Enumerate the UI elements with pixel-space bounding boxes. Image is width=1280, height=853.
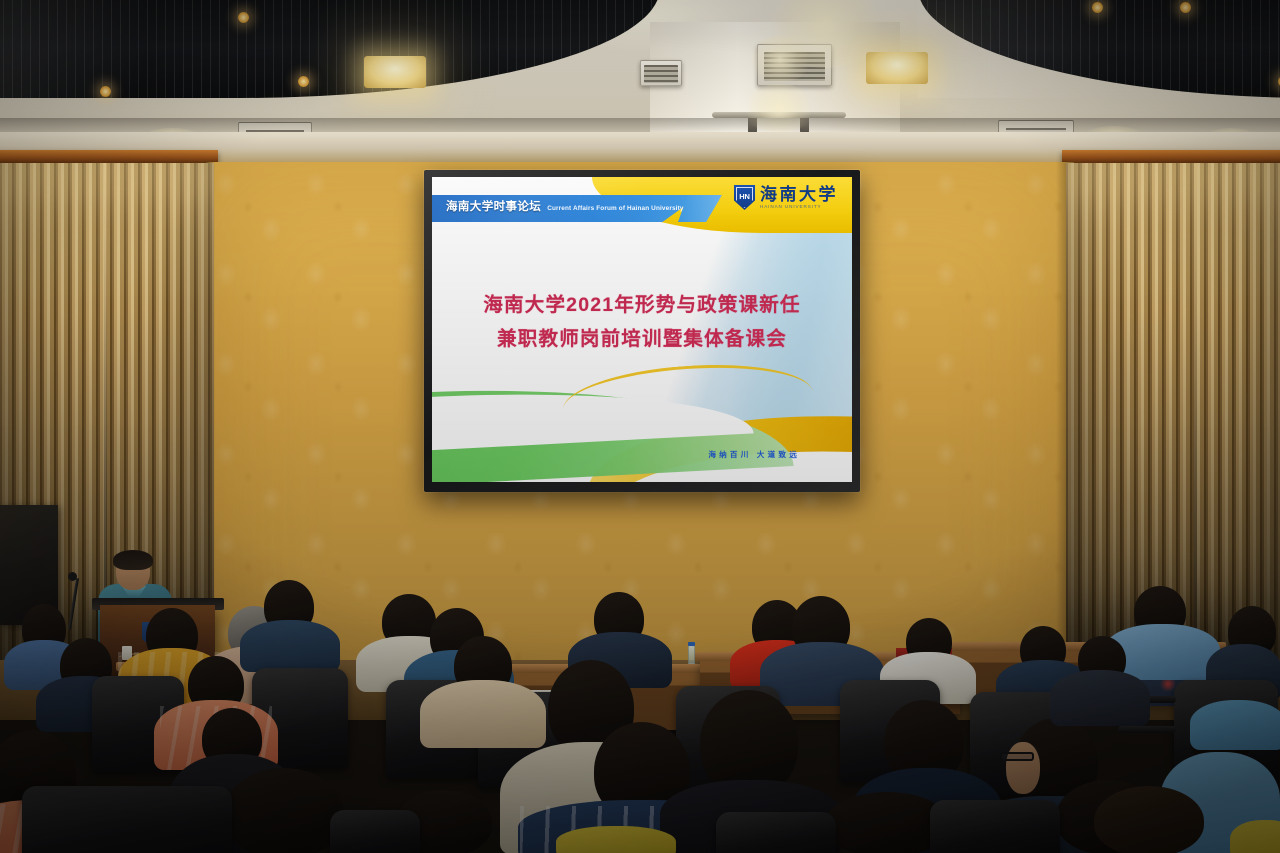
auditorium-chair[interactable]: [716, 812, 836, 853]
pendant-spot-icon: [1092, 2, 1103, 13]
slide-title: 海南大学2021年形势与政策课新任 兼职教师岗前培训暨集体备课会: [432, 289, 852, 356]
audience-shoulders: [1050, 670, 1150, 726]
pendant-spot-icon: [100, 86, 111, 97]
ceiling-panel-left: [0, 0, 660, 98]
presentation-slide: 海南大学时事论坛 Current Affairs Forum of Hainan…: [432, 177, 852, 482]
pendant-spot-icon: [238, 12, 249, 23]
audience-shoulders: [240, 620, 340, 672]
auditorium-chair[interactable]: [22, 786, 232, 853]
audience-face-profile: [1006, 742, 1040, 794]
curtain-valance-right: [1062, 150, 1280, 164]
water-bottle: [688, 645, 695, 664]
presenter-hair: [113, 550, 153, 570]
ceiling-air-conditioner-secondary-icon: [640, 60, 682, 86]
eyeglasses-icon: [1000, 752, 1034, 761]
shield-monogram: HN: [739, 192, 749, 201]
auditorium-chair[interactable]: [330, 810, 420, 853]
university-logo: HN 海南大学 HAINAN UNIVERSITY: [734, 185, 838, 210]
ceiling-light-panel: [866, 52, 928, 84]
ceiling-panel-gloss: [918, 0, 1280, 98]
logo-name-en: HAINAN UNIVERSITY: [760, 205, 838, 210]
curtain-valance-left: [0, 150, 218, 164]
bottle-cap: [688, 642, 695, 646]
audience-shoulders: [420, 680, 546, 748]
ceiling-light-panel: [364, 56, 426, 88]
logo-wordmark: 海南大学 HAINAN UNIVERSITY: [760, 186, 838, 210]
audience-shoulders: [1190, 700, 1280, 750]
slide-title-line-1: 海南大学2021年形势与政策课新任: [432, 289, 852, 323]
ceiling-panel-gloss: [0, 0, 660, 98]
ceiling-panel-right: [918, 0, 1280, 98]
logo-name-cn: 海南大学: [760, 186, 838, 203]
slide-slogan: 海纳百川 大道致远: [708, 449, 800, 460]
pendant-spot-icon: [298, 76, 309, 87]
audience-shoulders: [556, 826, 676, 853]
banner-title-en: Current Affairs Forum of Hainan Universi…: [547, 205, 683, 212]
banner-title-cn: 海南大学时事论坛: [446, 198, 541, 214]
auditorium-chair[interactable]: [930, 800, 1060, 853]
projection-screen[interactable]: 海南大学时事论坛 Current Affairs Forum of Hainan…: [424, 170, 860, 492]
slide-title-line-2: 兼职教师岗前培训暨集体备课会: [432, 323, 852, 357]
ac-vents: [644, 65, 678, 82]
conference-hall-photo: 海南大学时事论坛 Current Affairs Forum of Hainan…: [0, 0, 1280, 853]
audience-head: [1094, 786, 1204, 853]
slide-banner-text: 海南大学时事论坛 Current Affairs Forum of Hainan…: [446, 198, 684, 214]
slide-header-band: 海南大学时事论坛 Current Affairs Forum of Hainan…: [432, 177, 852, 233]
microphone-icon: [68, 572, 77, 581]
shield-icon: HN: [734, 185, 755, 210]
pendant-spot-icon: [1180, 2, 1191, 13]
ceiling-light-glow: [745, 36, 815, 82]
audience-head: [224, 768, 344, 853]
chair-armrest: [1118, 726, 1176, 733]
